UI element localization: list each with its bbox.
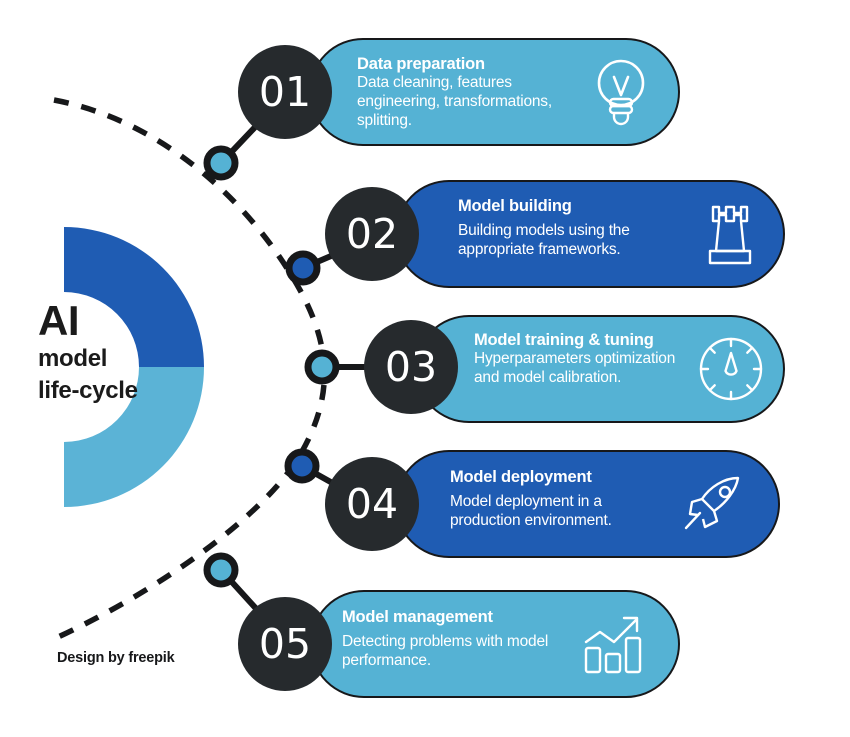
step-number-circle-03[interactable]: 03 [364,320,458,414]
chess-rook-icon [700,203,760,267]
step-number-04: 04 [346,484,398,525]
step-description-01: Data cleaning, features engineering, tra… [357,74,572,130]
step-number-circle-04[interactable]: 04 [325,457,419,551]
brand-title-block: AI model life-cycle [38,300,208,406]
timeline-node-1[interactable] [207,149,235,177]
brand-title-ai: AI [38,300,208,343]
step-number-01: 01 [259,72,311,113]
step-number-03: 03 [385,347,437,388]
step-title-02: Model building [458,197,673,216]
timeline-node-5[interactable] [207,556,235,584]
step-description-02: Building models using the appropriate fr… [458,222,673,259]
step-number-circle-01[interactable]: 01 [238,45,332,139]
step-description-05: Detecting problems with model performanc… [342,633,557,670]
step-description-04: Model deployment in a production environ… [450,493,665,530]
timeline-nodes [207,149,336,584]
timeline-node-2[interactable] [289,254,317,282]
brand-subtitle-model: model [38,343,208,375]
step-text-01: Data preparation Data cleaning, features… [357,55,572,130]
step-title-05: Model management [342,608,557,627]
step-number-05: 05 [259,624,311,665]
gauge-icon [695,333,767,405]
lightbulb-icon [589,55,653,130]
bar-chart-growth-icon [580,608,650,678]
step-number-02: 02 [346,214,398,255]
step-number-circle-02[interactable]: 02 [325,187,419,281]
step-text-04: Model deployment Model deployment in a p… [450,468,665,531]
step-text-02: Model building Building models using the… [458,197,673,260]
step-title-04: Model deployment [450,468,665,487]
step-text-05: Model management Detecting problems with… [342,608,557,671]
step-text-03: Model training & tuning Hyperparameters … [474,331,679,388]
brand-subtitle-lifecycle: life-cycle [38,375,208,407]
step-number-circle-05[interactable]: 05 [238,597,332,691]
timeline-node-4[interactable] [288,452,316,480]
step-description-03: Hyperparameters optimization and model c… [474,350,679,387]
timeline-node-3[interactable] [308,353,336,381]
rocket-icon [680,470,752,540]
step-title-01: Data preparation [357,55,572,74]
credit-label: Design by freepik [57,650,174,666]
infographic-canvas: AI model life-cycle Design by freepik Da… [0,0,850,737]
step-title-03: Model training & tuning [474,331,679,350]
